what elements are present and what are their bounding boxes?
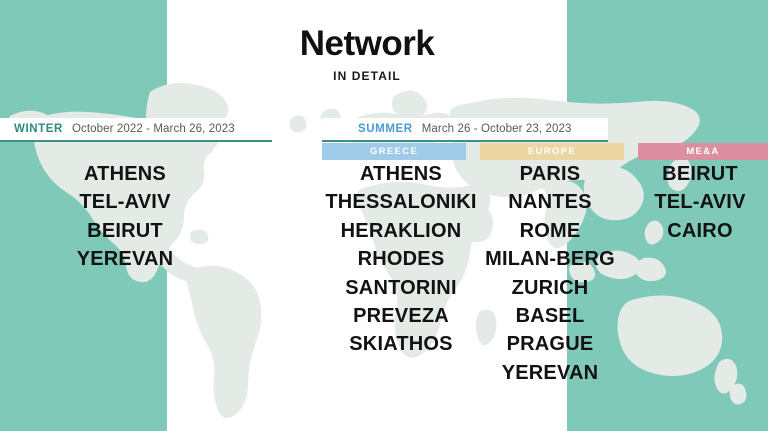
city-name: TEL-AVIV (0, 188, 250, 216)
city-name: ATHENS (0, 160, 250, 188)
city-name: SKIATHOS (316, 330, 486, 358)
mea-city-list: BEIRUTTEL-AVIVCAIRO (632, 160, 768, 245)
city-name: PARIS (470, 160, 630, 188)
city-name: ATHENS (316, 160, 486, 188)
greece-city-list: ATHENSTHESSALONIKIHERAKLIONRHODESSANTORI… (316, 160, 486, 359)
europe-city-list: PARISNANTESROMEMILAN-BERGZURICHBASELPRAG… (470, 160, 630, 387)
winter-dates: October 2022 - March 26, 2023 (72, 123, 235, 135)
city-name: NANTES (470, 188, 630, 216)
summer-season-header: SUMMER March 26 - October 23, 2023 (322, 118, 608, 142)
city-name: YEREVAN (470, 359, 630, 387)
winter-label: WINTER (14, 123, 63, 135)
city-name: RHODES (316, 245, 486, 273)
city-name: THESSALONIKI (316, 188, 486, 216)
city-name: YEREVAN (0, 245, 250, 273)
page-title: Network (167, 26, 567, 63)
city-name: BEIRUT (632, 160, 768, 188)
winter-city-list: ATHENSTEL-AVIVBEIRUTYEREVAN (0, 160, 250, 274)
city-name: SANTORINI (316, 274, 486, 302)
winter-season-header: WINTER October 2022 - March 26, 2023 (0, 118, 272, 142)
city-name: BEIRUT (0, 217, 250, 245)
city-name: ROME (470, 217, 630, 245)
city-name: CAIRO (632, 217, 768, 245)
summer-dates: March 26 - October 23, 2023 (422, 123, 572, 135)
city-name: ZURICH (470, 274, 630, 302)
city-name: MILAN-BERG (470, 245, 630, 273)
category-bar-row: GREECE EUROPE ME&A (322, 143, 768, 160)
city-name: TEL-AVIV (632, 188, 768, 216)
city-name: HERAKLION (316, 217, 486, 245)
page-subtitle: IN DETAIL (167, 69, 567, 83)
slide-canvas: Network IN DETAIL WINTER October 2022 - … (0, 0, 768, 431)
city-name: PRAGUE (470, 330, 630, 358)
category-bar-europe: EUROPE (480, 143, 624, 160)
city-name: PREVEZA (316, 302, 486, 330)
summer-label: SUMMER (358, 123, 413, 135)
title-block: Network IN DETAIL (167, 26, 567, 83)
city-name: BASEL (470, 302, 630, 330)
category-bar-mea: ME&A (638, 143, 768, 160)
category-bar-greece: GREECE (322, 143, 466, 160)
